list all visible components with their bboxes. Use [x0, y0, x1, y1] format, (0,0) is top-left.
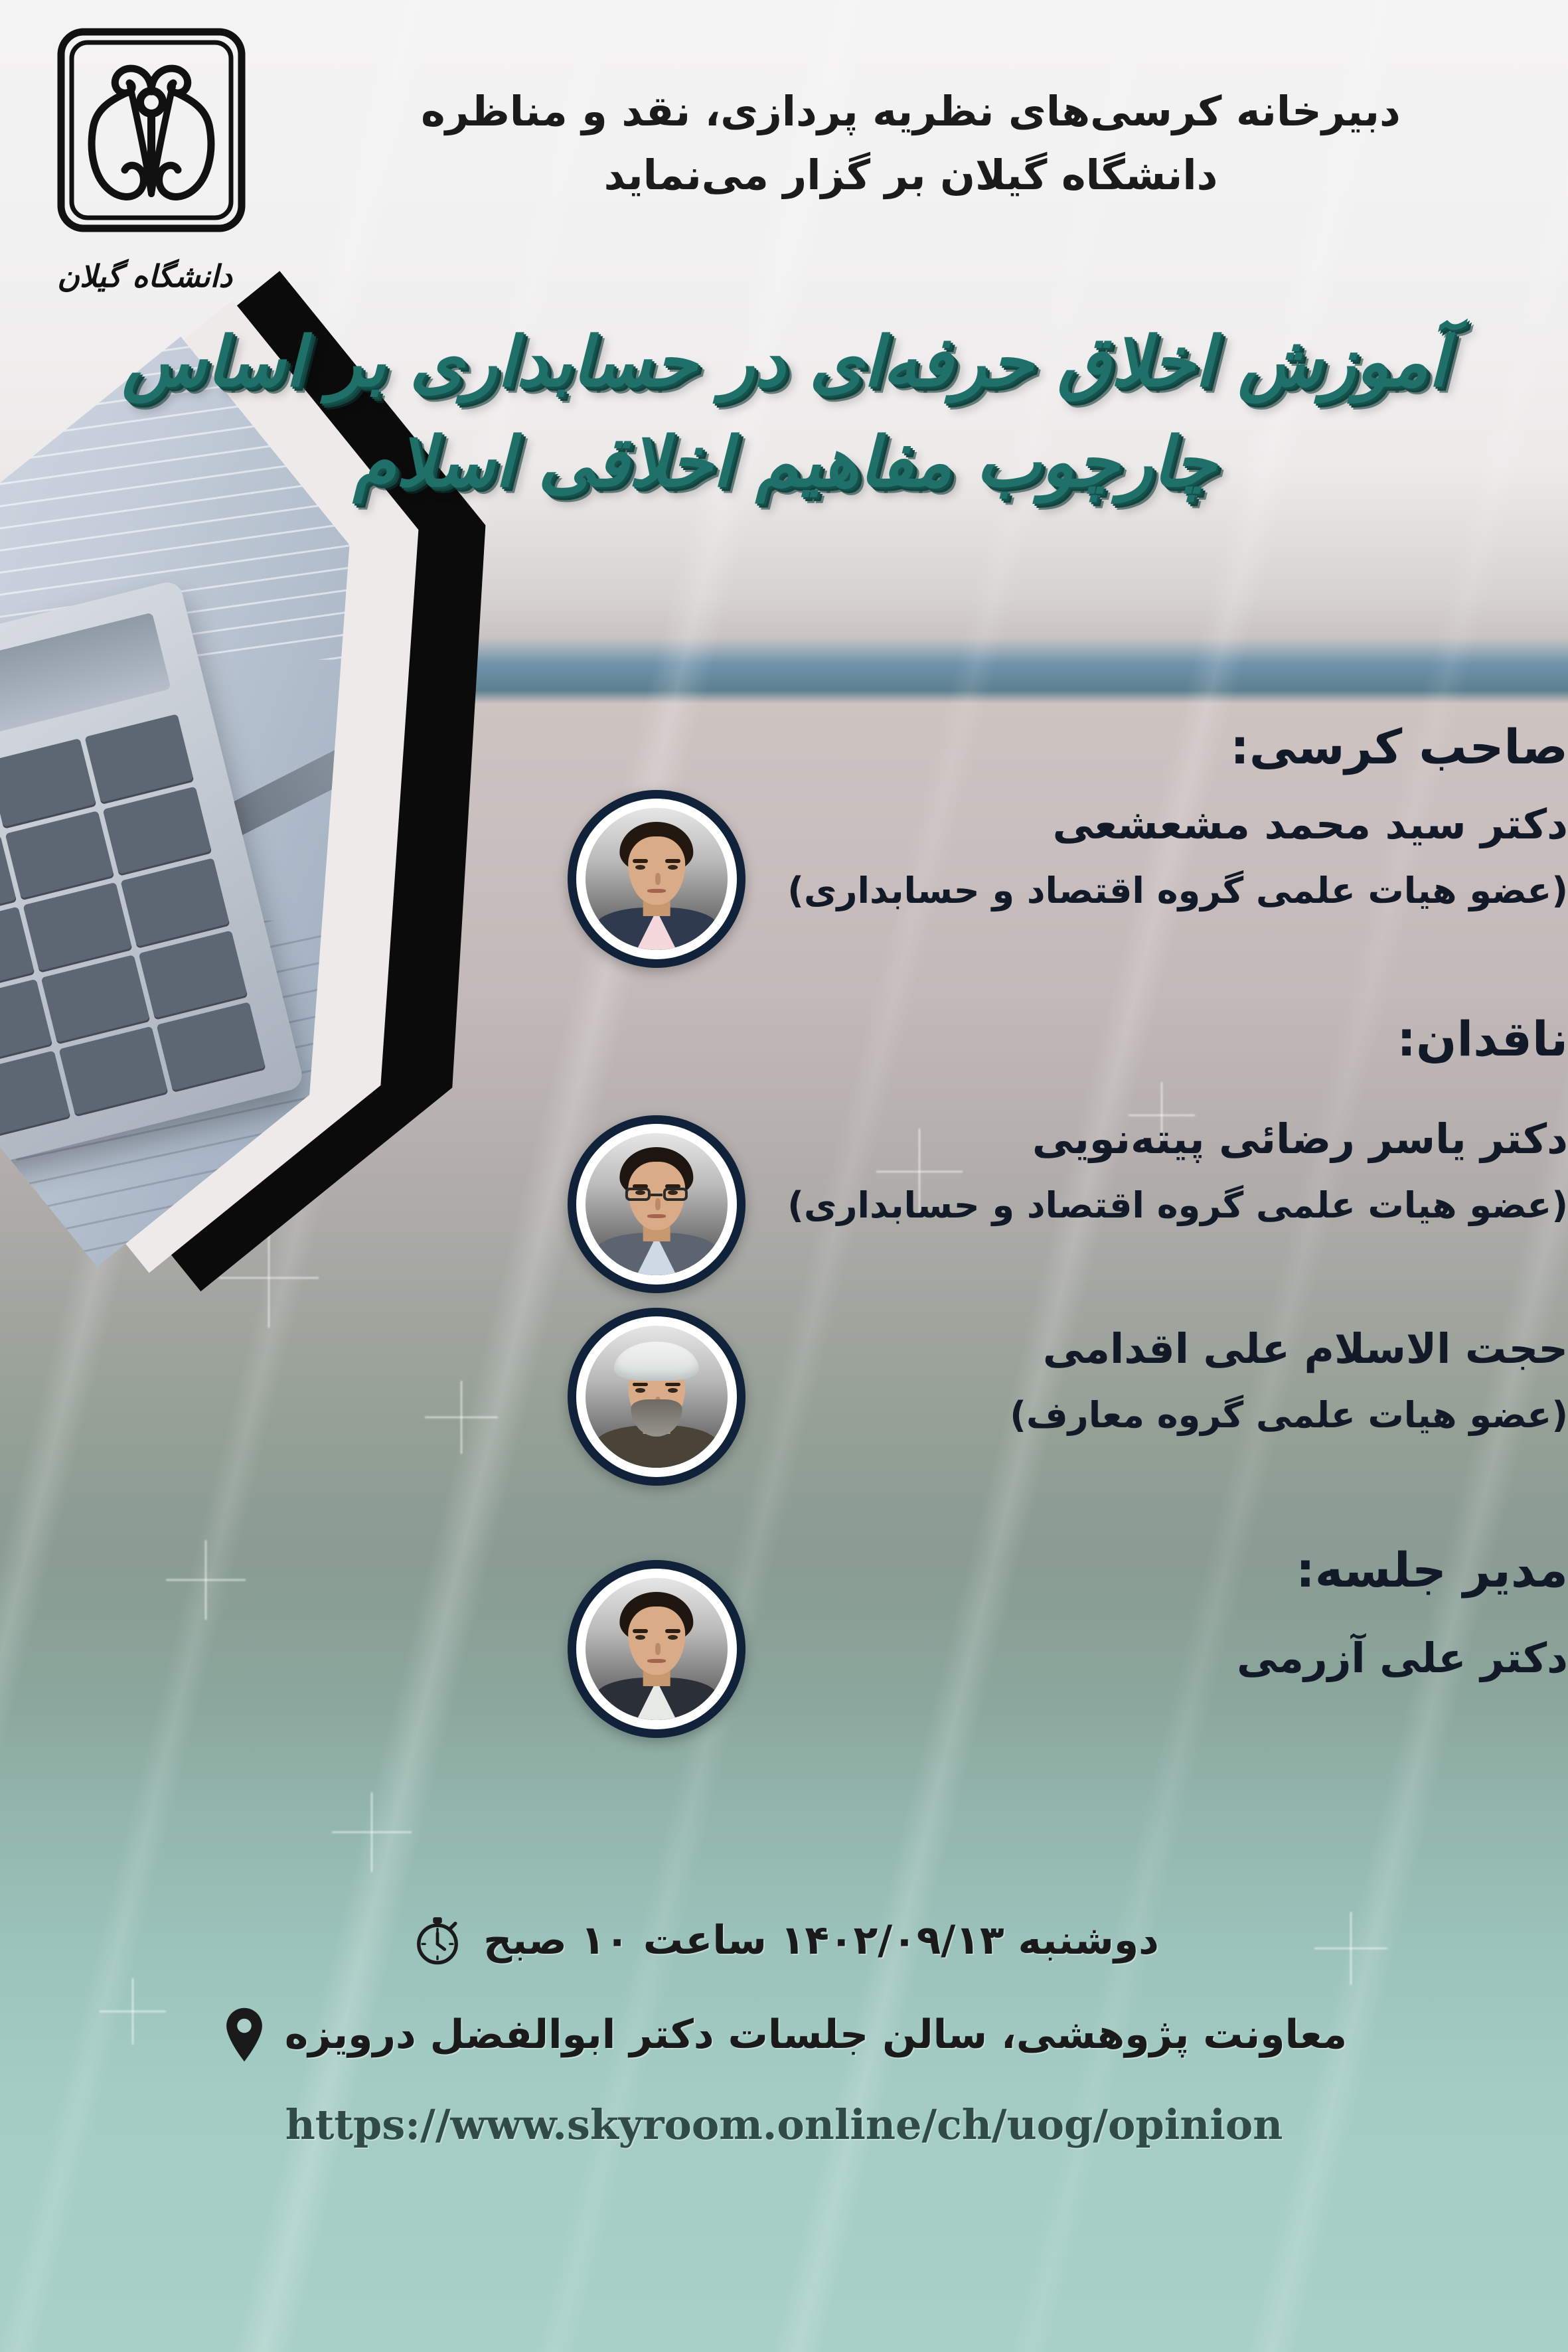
portrait-eqdami: [586, 1326, 728, 1468]
turban: [614, 1342, 699, 1381]
organizer-line-1: دبیرخانه کرسی‌های نظریه پردازی، نقد و من…: [353, 80, 1468, 143]
university-name-calligraphy: دانشگاه گیلان: [39, 246, 251, 303]
avatar: [568, 790, 745, 968]
participant-info: ناقدان: دکتر یاسر رضائی پیته‌نویی (عضو ه…: [0, 1009, 1568, 1230]
portrait-mashasha: [586, 808, 728, 950]
portrait-azarmi: [586, 1578, 728, 1720]
participants-section: صاحب کرسی: دکتر سید محمد مشعشعی (عضو هیا…: [0, 717, 1568, 1779]
title-line-2: چارچوب مفاهیم اخلاقی اسلام: [121, 412, 1449, 512]
datetime-line: دوشنبه ۱۴۰۲/۰۹/۱۳ ساعت ۱۰ صبح: [0, 1912, 1568, 1969]
participant-name: دکتر سید محمد مشعشعی: [0, 797, 1568, 852]
map-pin-icon: [221, 2006, 268, 2063]
university-name-text: دانشگاه گیلان: [57, 258, 233, 294]
participant-row: مدیر جلسه: دکتر علی آزرمی: [0, 1540, 1568, 1779]
participant-role: مدیر جلسه:: [0, 1540, 1568, 1600]
participant-name: دکتر علی آزرمی: [0, 1630, 1568, 1686]
university-logo: دانشگاه گیلان: [32, 23, 251, 305]
avatar: [568, 1560, 745, 1738]
poster-footer: دوشنبه ۱۴۰۲/۰۹/۱۳ ساعت ۱۰ صبح معاونت پژو…: [0, 1912, 1568, 2149]
participant-info: صاحب کرسی: دکتر سید محمد مشعشعی (عضو هیا…: [0, 717, 1568, 915]
participant-row: حجت الاسلام علی اقدامی (عضو هیات علمی گر…: [0, 1321, 1568, 1540]
poster-title: آموزش اخلاق حرفه‌ای در حسابداری بر اساس …: [121, 312, 1449, 512]
portrait-rezaei: [586, 1133, 728, 1275]
participant-affiliation: (عضو هیات علمی گروه اقتصاد و حسابداری): [0, 1182, 1568, 1230]
participant-info: حجت الاسلام علی اقدامی (عضو هیات علمی گر…: [0, 1321, 1568, 1440]
meeting-url[interactable]: https://www.skyroom.online/ch/uog/opinio…: [0, 2100, 1568, 2149]
gilan-emblem-icon: [52, 23, 251, 248]
avatar: [568, 1115, 745, 1293]
event-poster: دانشگاه گیلان دبیرخانه کرسی‌های نظریه پر…: [0, 0, 1568, 2352]
participant-role: ناقدان:: [0, 1009, 1568, 1069]
location-line: معاونت پژوهشی، سالن جلسات دکتر ابوالفضل …: [0, 2006, 1568, 2063]
participant-affiliation: (عضو هیات علمی گروه معارف): [0, 1391, 1568, 1440]
datetime-text: دوشنبه ۱۴۰۲/۰۹/۱۳ ساعت ۱۰ صبح: [483, 1917, 1159, 1964]
participant-row: ناقدان: دکتر یاسر رضائی پیته‌نویی (عضو ه…: [0, 1009, 1568, 1321]
organizer-line-2: دانشگاه گیلان بر گزار می‌نماید: [353, 143, 1468, 207]
organizer-header: دبیرخانه کرسی‌های نظریه پردازی، نقد و من…: [353, 80, 1468, 207]
title-line-1: آموزش اخلاق حرفه‌ای در حسابداری بر اساس: [121, 312, 1449, 412]
sparkle-icon: [332, 1792, 412, 1872]
participant-role: صاحب کرسی:: [0, 717, 1568, 777]
participant-name: دکتر یاسر رضائی پیته‌نویی: [0, 1111, 1568, 1167]
participant-row: صاحب کرسی: دکتر سید محمد مشعشعی (عضو هیا…: [0, 717, 1568, 1009]
participant-affiliation: (عضو هیات علمی گروه اقتصاد و حسابداری): [0, 867, 1568, 915]
participant-info: مدیر جلسه: دکتر علی آزرمی: [0, 1540, 1568, 1686]
location-text: معاونت پژوهشی، سالن جلسات دکتر ابوالفضل …: [285, 2011, 1347, 2058]
participant-name: حجت الاسلام علی اقدامی: [0, 1321, 1568, 1377]
stopwatch-icon: [409, 1912, 466, 1969]
avatar: [568, 1308, 745, 1486]
